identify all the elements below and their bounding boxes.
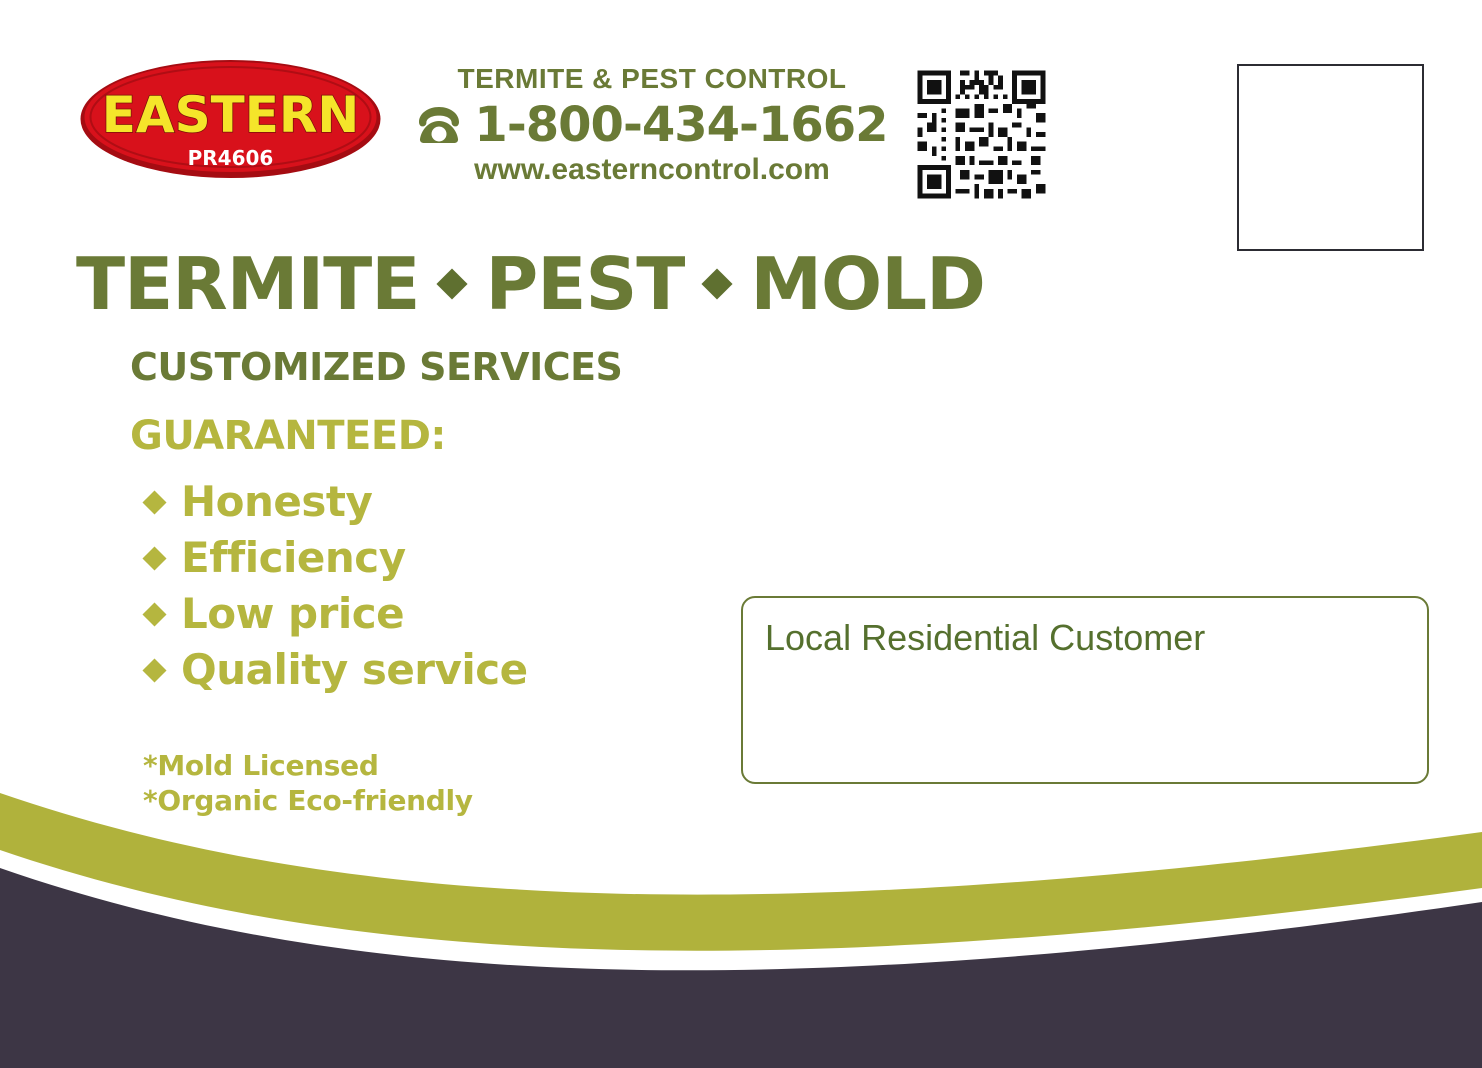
contact-block: TERMITE & PEST CONTROL 1-800-434-1662 ww… [432,64,872,187]
logo-license-number: PR4606 [188,146,274,170]
subheadline: CUSTOMIZED SERVICES [130,348,622,386]
guarantee-item-label: Low price [181,593,404,635]
telephone-icon [416,105,462,145]
guarantee-item-label: Quality service [181,649,528,691]
diamond-icon [702,268,733,299]
olive-band [0,793,1482,951]
logo-wordmark: EASTERN [102,86,359,144]
guarantee-item-label: Honesty [181,481,372,523]
diamond-bullet-icon [142,602,166,626]
phone-number[interactable]: 1-800-434-1662 [474,101,887,149]
company-tagline: TERMITE & PEST CONTROL [432,64,872,95]
headline-word-mold: MOLD [750,248,985,320]
list-item: Efficiency [146,530,528,586]
diamond-bullet-icon [142,658,166,682]
guarantee-item-label: Efficiency [181,537,406,579]
footer-decorative-curves [0,760,1482,1068]
phone-row: 1-800-434-1662 [432,101,872,149]
headline-word-termite: TERMITE [76,248,419,320]
address-box: Local Residential Customer [741,596,1429,784]
list-item: Quality service [146,642,528,698]
diamond-icon [437,268,468,299]
qr-code-icon[interactable] [913,66,1050,203]
guarantee-label: GUARANTEED: [130,416,446,456]
postcard-mailer: EASTERN PR4606 TERMITE & PEST CONTROL 1-… [0,0,1482,1068]
address-recipient: Local Residential Customer [765,616,1205,659]
diamond-bullet-icon [142,490,166,514]
list-item: Low price [146,586,528,642]
diamond-bullet-icon [142,546,166,570]
guarantee-list: Honesty Efficiency Low price Quality ser… [146,474,528,698]
eastern-logo: EASTERN PR4606 [78,58,383,180]
website-url[interactable]: www.easterncontrol.com [432,153,872,188]
headline-word-pest: PEST [485,248,684,320]
stamp-box [1237,64,1424,251]
list-item: Honesty [146,474,528,530]
headline: TERMITE PEST MOLD [76,248,985,320]
